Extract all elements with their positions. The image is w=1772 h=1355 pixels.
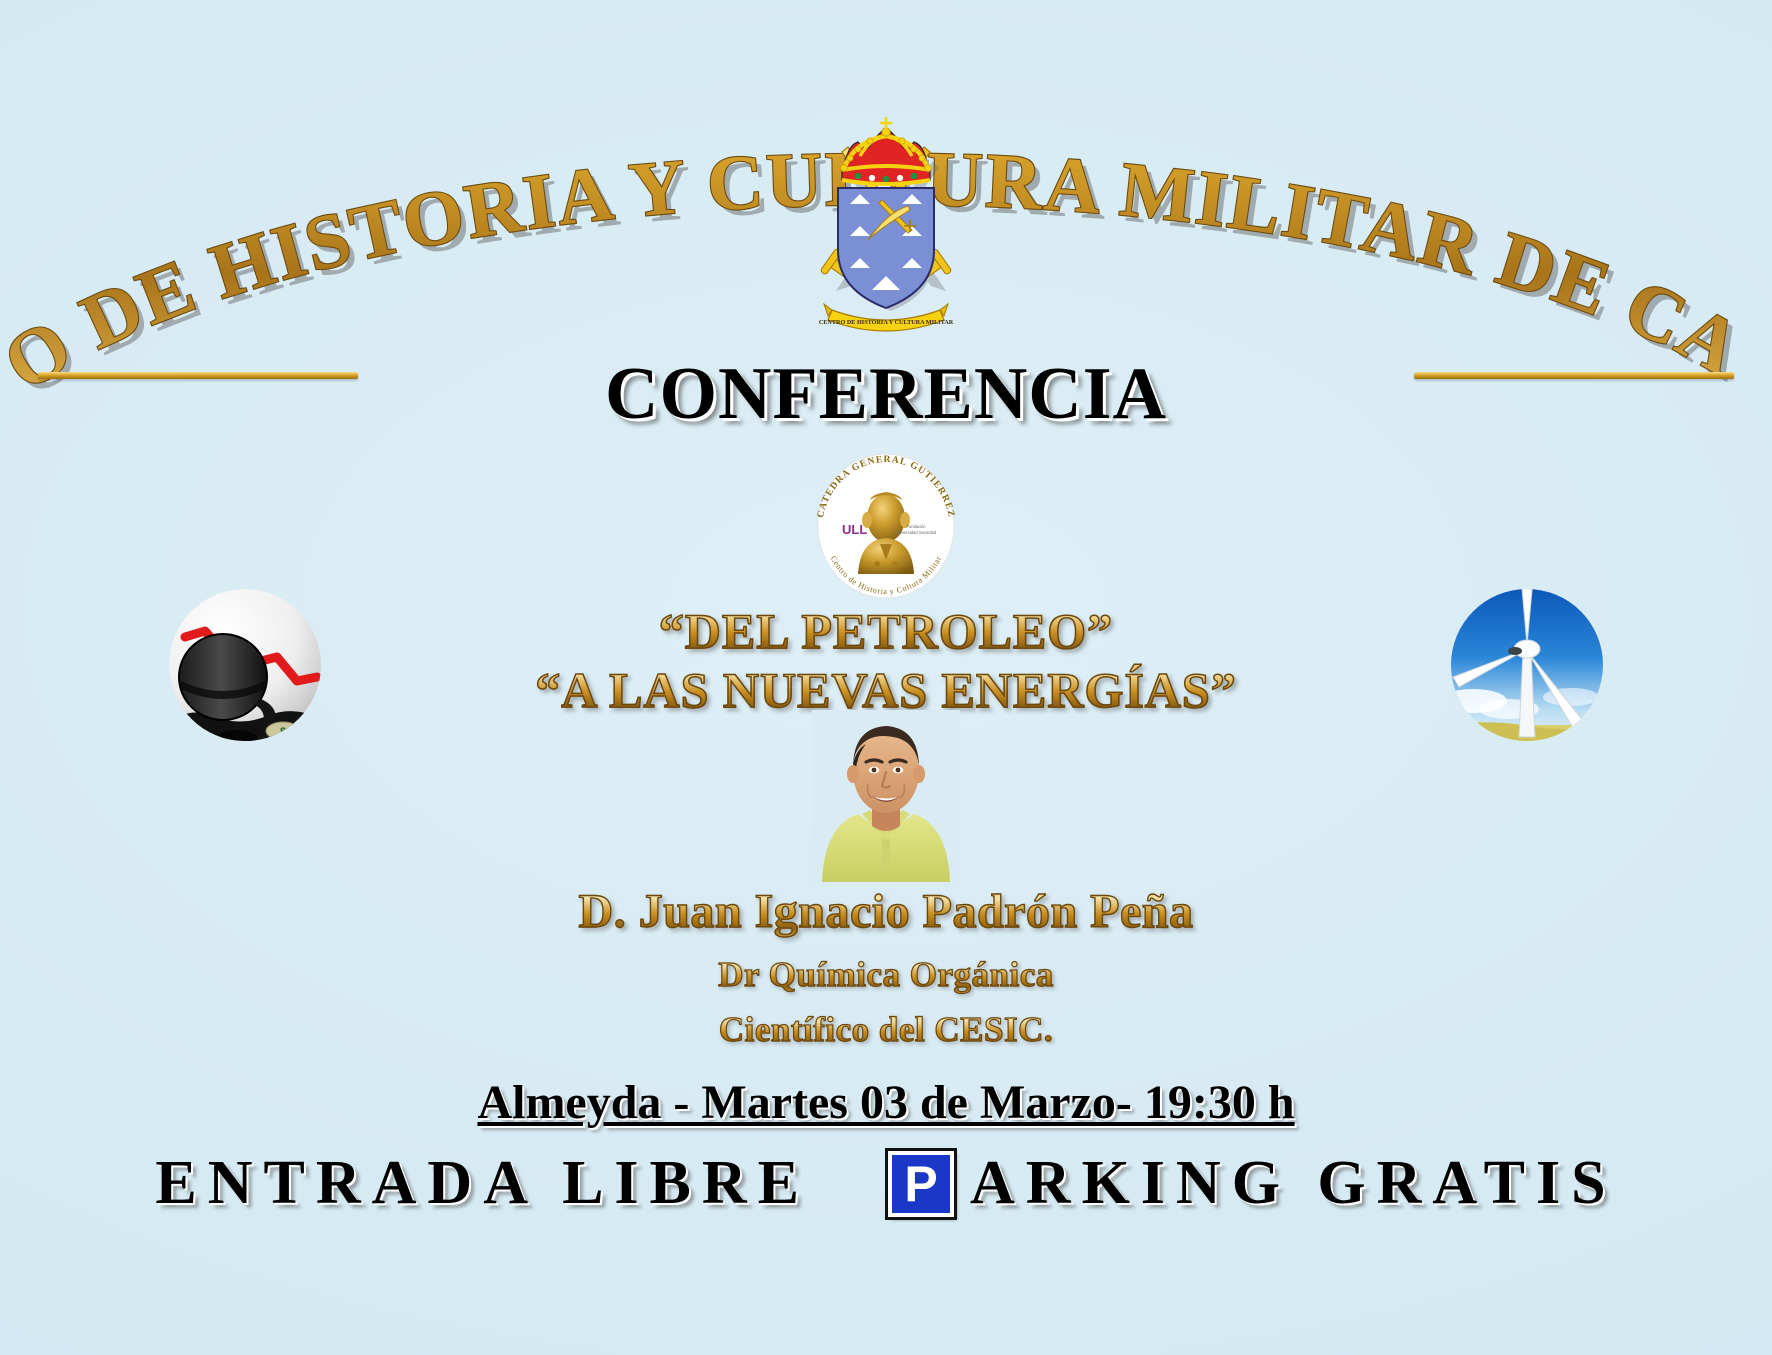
free-entry-label: ENTRADA LIBRE (155, 1148, 810, 1219)
ull-logo-sub-2: Universidad-Sociedad (896, 530, 937, 535)
speaker-name: D. Juan Ignacio Padrón Peña (0, 884, 1772, 939)
conference-title-block: “DEL PETROLEO” “A LAS NUEVAS ENERGÍAS” (0, 602, 1772, 720)
coat-of-arms-emblem: CENTRO DE HISTORIA Y CULTURA MILITAR (786, 100, 986, 350)
venue-datetime: Almeyda - Martes 03 de Marzo- 19:30 h (0, 1075, 1772, 1130)
ull-logo-sub-1: Fundación (906, 524, 926, 529)
parking-label: ARKING GRATIS (970, 1148, 1617, 1219)
speaker-role-line1: Dr Química Orgánica (0, 955, 1772, 995)
catedra-general-gutierrez-seal: ULL Fundación Universidad-Sociedad CATED… (806, 448, 966, 600)
speaker-role-line2: Científico del CESIC. (0, 1010, 1772, 1050)
event-kind-label: CONFERENCIA (0, 352, 1772, 437)
footer-row: ENTRADA LIBRE P ARKING GRATIS (0, 1148, 1772, 1219)
conference-title-line1: “DEL PETROLEO” (0, 602, 1772, 661)
emblem-scroll-text: CENTRO DE HISTORIA Y CULTURA MILITAR (819, 319, 954, 326)
speaker-portrait (812, 710, 960, 882)
royal-crown-icon (841, 118, 932, 184)
svg-text:$: $ (280, 726, 286, 738)
ull-logo-text: ULL (842, 522, 867, 537)
parking-sign-icon: P (888, 1151, 954, 1217)
parking-group: P ARKING GRATIS (888, 1148, 1617, 1219)
conference-poster: CENTRO DE HISTORIA Y CULTURA MILITAR DE … (0, 0, 1772, 1355)
